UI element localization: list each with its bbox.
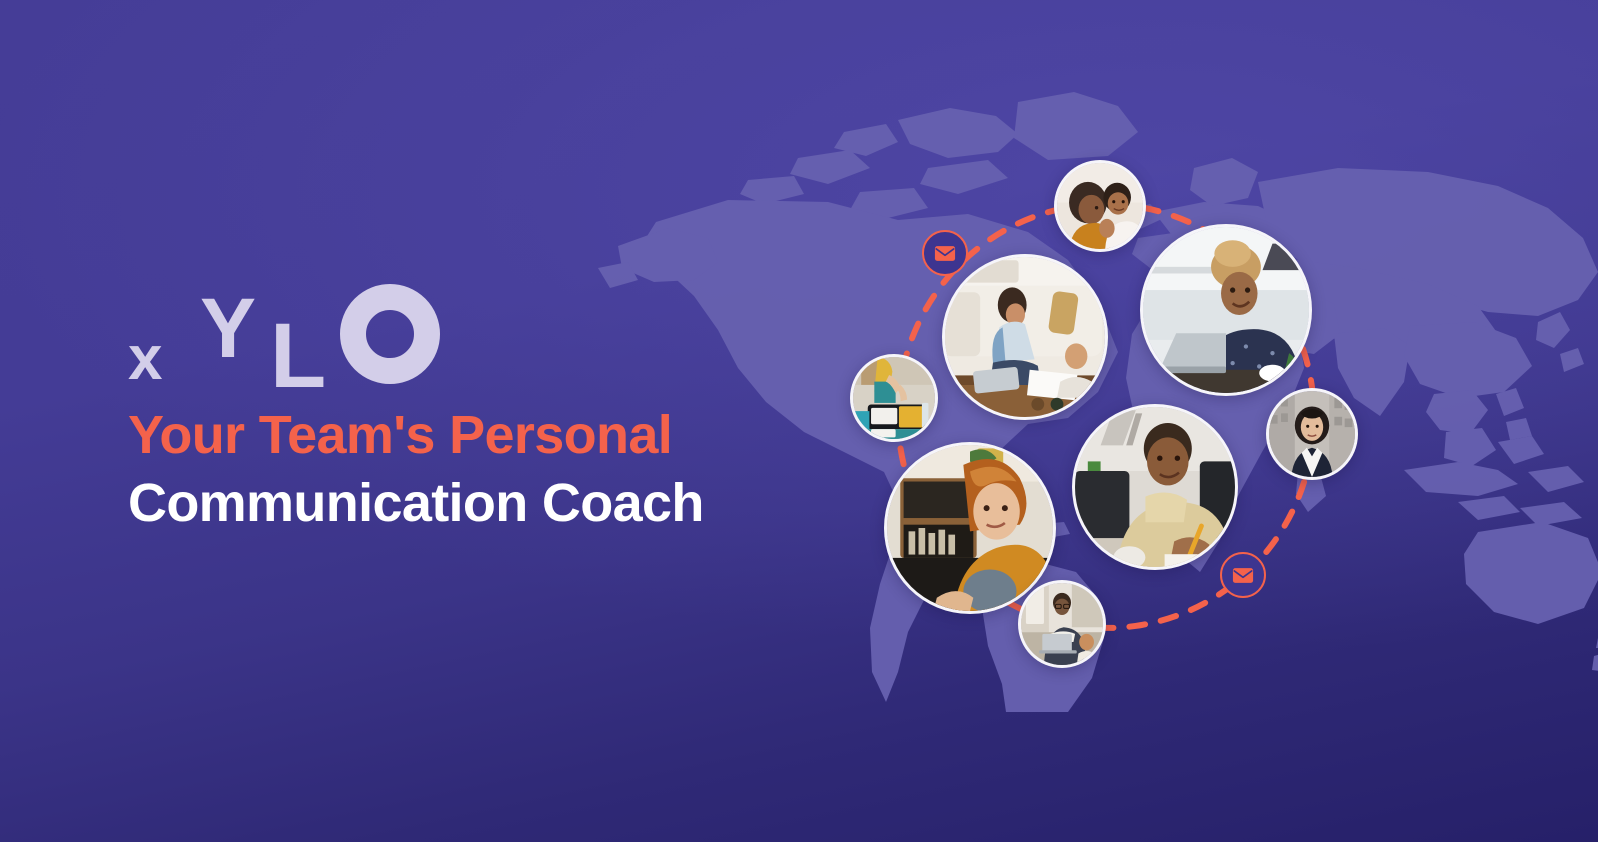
- photo-mother-and-baby: [1057, 163, 1143, 249]
- logo-letter-l: L: [270, 310, 325, 402]
- bubble-woman-living-room-floor[interactable]: [942, 254, 1108, 420]
- bubble-businesswoman-city[interactable]: [1266, 388, 1358, 480]
- brand-logo[interactable]: x Y L: [128, 286, 438, 382]
- photo-father-laptop-baby: [1021, 583, 1103, 665]
- hero-banner: x Y L Your Team's Personal Communication…: [0, 0, 1598, 842]
- photo-woman-living-room-floor: [945, 257, 1105, 417]
- logo-letter-y: Y: [200, 286, 255, 370]
- envelope-badge-bottom[interactable]: [1220, 552, 1266, 598]
- photo-man-writing-desk: [1075, 407, 1235, 567]
- hero-text-block: x Y L Your Team's Personal Communication…: [128, 286, 828, 535]
- people-collage: [838, 150, 1378, 690]
- photo-woman-laptop-office: [1143, 227, 1309, 393]
- headline-line-1: Your Team's Personal: [128, 404, 828, 468]
- envelope-badge-top[interactable]: [922, 230, 968, 276]
- bubble-mother-and-baby[interactable]: [1054, 160, 1146, 252]
- photo-businesswoman-city: [1269, 391, 1355, 477]
- bubble-woman-laptop-office[interactable]: [1140, 224, 1312, 396]
- logo-letter-x: x: [128, 328, 162, 390]
- photo-packing-suitcase: [853, 357, 935, 439]
- bubble-man-writing-desk[interactable]: [1072, 404, 1238, 570]
- envelope-icon: [934, 245, 956, 262]
- logo-letter-o: [340, 284, 444, 388]
- headline: Your Team's Personal Communication Coach: [128, 404, 828, 535]
- headline-line-2: Communication Coach: [128, 472, 828, 536]
- bubble-father-laptop-baby[interactable]: [1018, 580, 1106, 668]
- bubble-packing-suitcase[interactable]: [850, 354, 938, 442]
- envelope-icon: [1232, 567, 1254, 584]
